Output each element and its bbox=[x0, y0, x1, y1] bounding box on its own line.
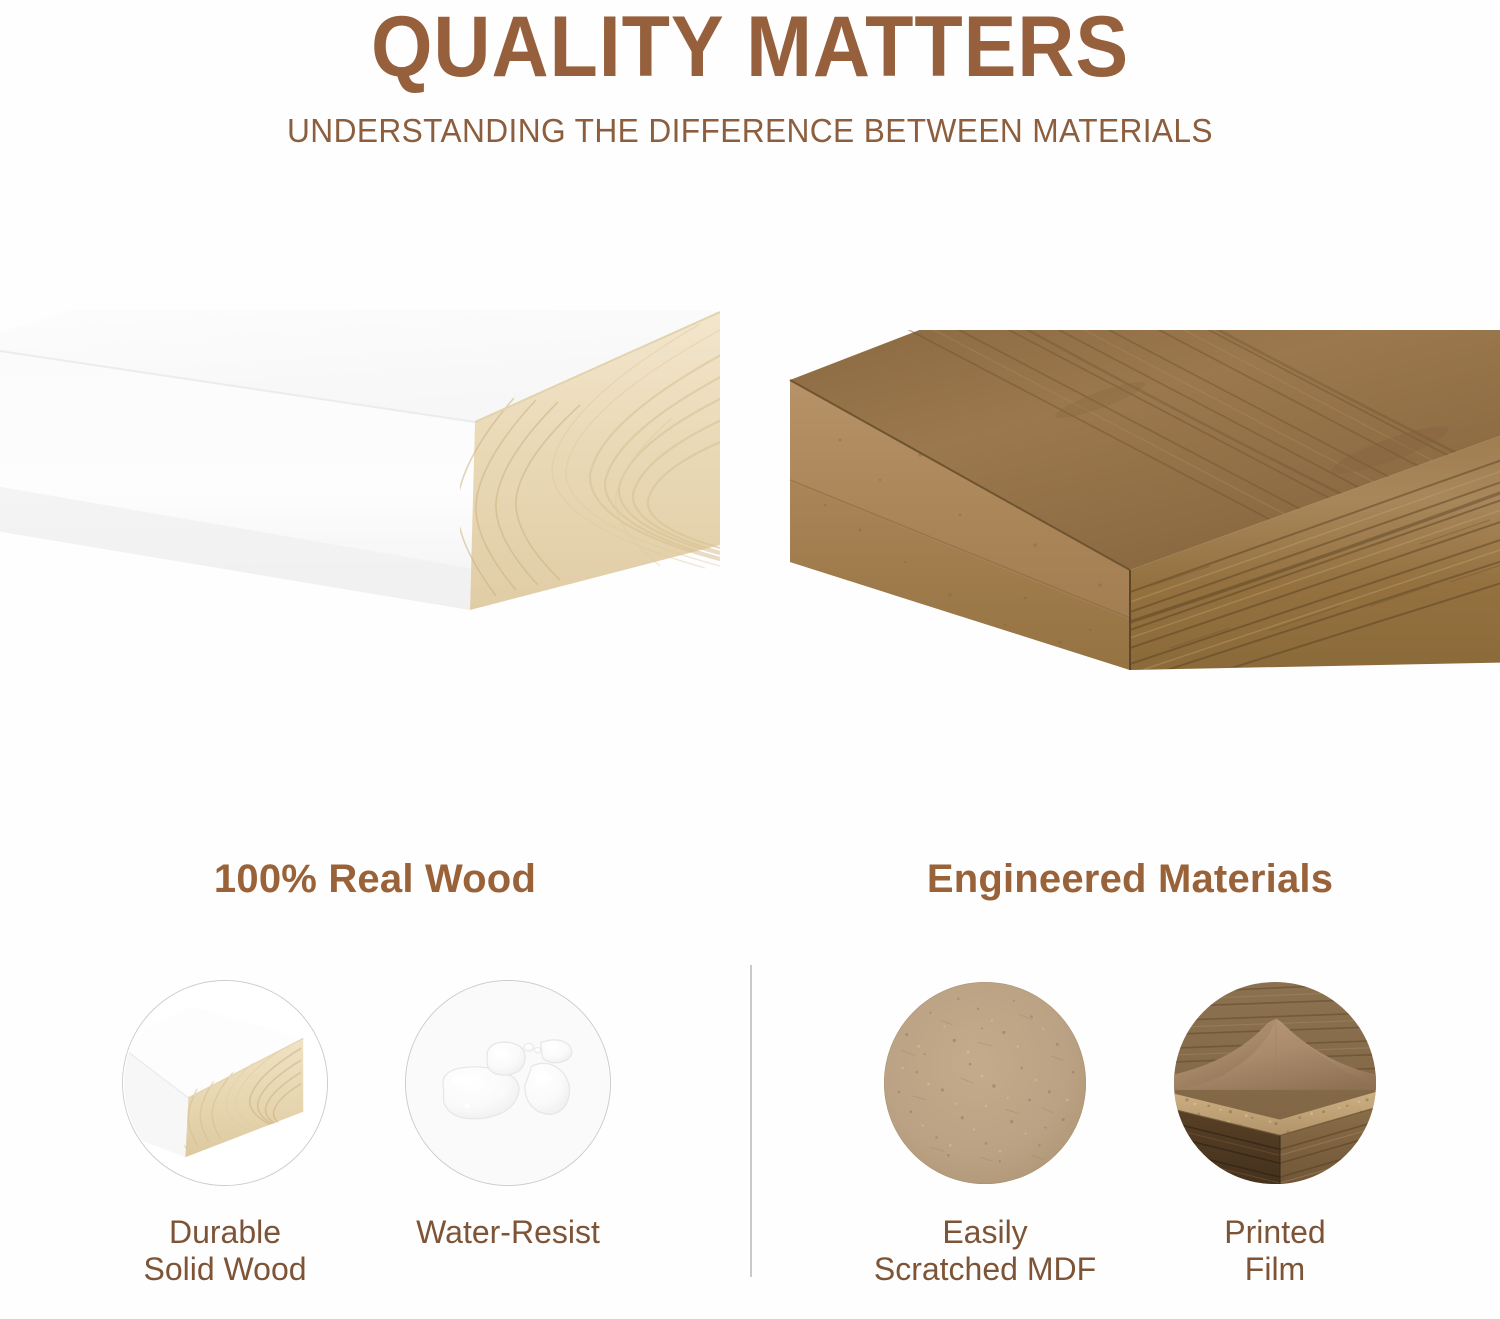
page-title: QUALITY MATTERS bbox=[60, 4, 1440, 90]
hero-images bbox=[0, 300, 1500, 720]
section-heading-real-wood: 100% Real Wood bbox=[0, 857, 750, 902]
water-droplets-icon bbox=[405, 980, 611, 1186]
feature-label: Water-Resist bbox=[378, 1214, 638, 1251]
infographic-page: QUALITY MATTERS UNDERSTANDING THE DIFFER… bbox=[0, 0, 1500, 1319]
white-solid-wood-shelf-image bbox=[0, 310, 720, 710]
brown-engineered-shelf-image bbox=[770, 330, 1500, 710]
page-subtitle: UNDERSTANDING THE DIFFERENCE BETWEEN MAT… bbox=[30, 112, 1470, 150]
peeling-printed-film-icon bbox=[1172, 980, 1378, 1186]
feature-row: Durable Solid Wood bbox=[0, 980, 1500, 1310]
feature-durable-solid-wood: Durable Solid Wood bbox=[95, 980, 355, 1288]
feature-label: Easily Scratched MDF bbox=[855, 1214, 1115, 1288]
feature-printed-film: Printed Film bbox=[1145, 980, 1405, 1288]
mdf-particle-board-icon bbox=[882, 980, 1088, 1186]
feature-label: Durable Solid Wood bbox=[95, 1214, 355, 1288]
feature-easily-scratched-mdf: Easily Scratched MDF bbox=[855, 980, 1115, 1288]
feature-water-resist: Water-Resist bbox=[378, 980, 638, 1251]
section-heading-engineered-materials: Engineered Materials bbox=[760, 857, 1500, 902]
solid-wood-plank-icon bbox=[122, 980, 328, 1186]
header: QUALITY MATTERS UNDERSTANDING THE DIFFER… bbox=[0, 0, 1500, 150]
feature-label: Printed Film bbox=[1145, 1214, 1405, 1288]
